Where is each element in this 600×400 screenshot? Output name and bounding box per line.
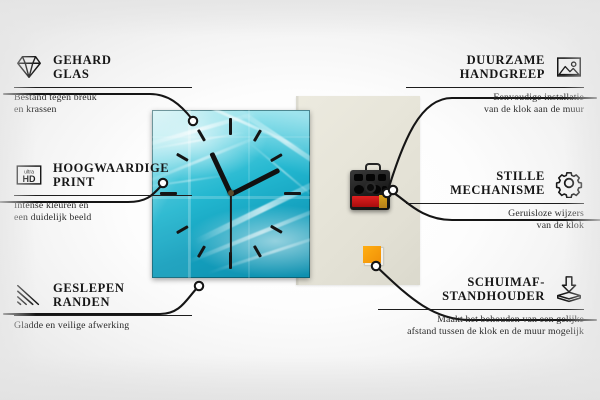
callout-subtitle-1: Eenvoudige installatie — [406, 92, 584, 104]
callout-title: DUURZAME HANDGREEP — [460, 53, 545, 82]
mechanism-dial — [354, 185, 364, 194]
diamond-icon — [14, 52, 44, 82]
callout-subtitle-1: Bestand tegen breuk — [14, 92, 192, 104]
callout-title: STILLE MECHANISME — [450, 169, 545, 198]
callout-stille-mechanisme: STILLE MECHANISME Geruisloze wijzers van… — [406, 168, 584, 233]
callout-title: GESLEPEN RANDEN — [53, 281, 125, 310]
callout-header: STILLE MECHANISME — [406, 168, 584, 198]
hand-center-cap — [228, 190, 234, 196]
picture-frame-icon — [554, 52, 584, 82]
callout-subtitle-1: Gladde en veilige afwerking — [14, 320, 192, 332]
callout-divider — [378, 309, 584, 310]
callout-geslepen-randen: GESLEPEN RANDEN Gladde en veilige afwerk… — [14, 280, 192, 332]
callout-subtitle-2: afstand tussen de klok en de muur mogeli… — [378, 326, 584, 338]
callout-title: HOOGWAARDIGE PRINT — [53, 161, 169, 190]
callout-subtitle-2: van de klok — [406, 220, 584, 232]
battery-terminal — [379, 195, 387, 208]
callout-subtitle-2: een duidelijk beeld — [14, 212, 192, 224]
callout-divider — [406, 87, 584, 88]
callout-subtitle-1: Maakt het behouden van een gelijke — [378, 314, 584, 326]
callout-divider — [14, 195, 192, 196]
svg-text:HD: HD — [23, 174, 36, 184]
callout-subtitle-2: en krassen — [14, 104, 192, 116]
callout-divider — [406, 203, 584, 204]
glass-reflection-line — [152, 136, 310, 138]
callout-hoogwaardige-print: ultra HD HOOGWAARDIGE PRINT Intense kleu… — [14, 160, 192, 225]
callout-header: ultra HD HOOGWAARDIGE PRINT — [14, 160, 192, 190]
callout-header: DUURZAME HANDGREEP — [406, 52, 584, 82]
callout-divider — [14, 315, 192, 316]
callout-header: SCHUIMAF- STANDHOUDER — [378, 274, 584, 304]
callout-gehard-glas: GEHARD GLAS Bestand tegen breuk en krass… — [14, 52, 192, 117]
beveled-edges-icon — [14, 280, 44, 310]
minute-hand — [230, 168, 280, 197]
mechanism-slot — [378, 174, 386, 181]
callout-subtitle-1: Intense kleuren en — [14, 200, 192, 212]
gear-icon — [554, 168, 584, 198]
mechanism-slot — [366, 174, 375, 181]
mechanism-slot — [354, 174, 363, 181]
callout-duurzame-handgreep: DUURZAME HANDGREEP Eenvoudige installati… — [406, 52, 584, 117]
mechanism-slot — [382, 186, 387, 192]
callout-subtitle-1: Geruisloze wijzers — [406, 208, 584, 220]
ultra-hd-icon: ultra HD — [14, 160, 44, 190]
second-hand — [230, 194, 232, 256]
callout-header: GEHARD GLAS — [14, 52, 192, 82]
callout-header: GESLEPEN RANDEN — [14, 280, 192, 310]
mechanism-shaft — [367, 184, 374, 191]
product-infographic: GEHARD GLAS Bestand tegen breuk en krass… — [0, 0, 600, 400]
tick-12 — [229, 118, 232, 135]
callout-divider — [14, 87, 192, 88]
callout-subtitle-2: van de klok aan de muur — [406, 104, 584, 116]
callout-title: SCHUIMAF- STANDHOUDER — [442, 275, 545, 304]
feather-streak — [235, 110, 310, 178]
foam-spacer-pad — [363, 246, 381, 263]
tick-3 — [284, 192, 301, 195]
callout-title: GEHARD GLAS — [53, 53, 111, 82]
tick-2 — [270, 153, 283, 162]
callout-schuimafstandhouder: SCHUIMAF- STANDHOUDER Maakt het behouden… — [378, 274, 584, 339]
press-down-pad-icon — [554, 274, 584, 304]
